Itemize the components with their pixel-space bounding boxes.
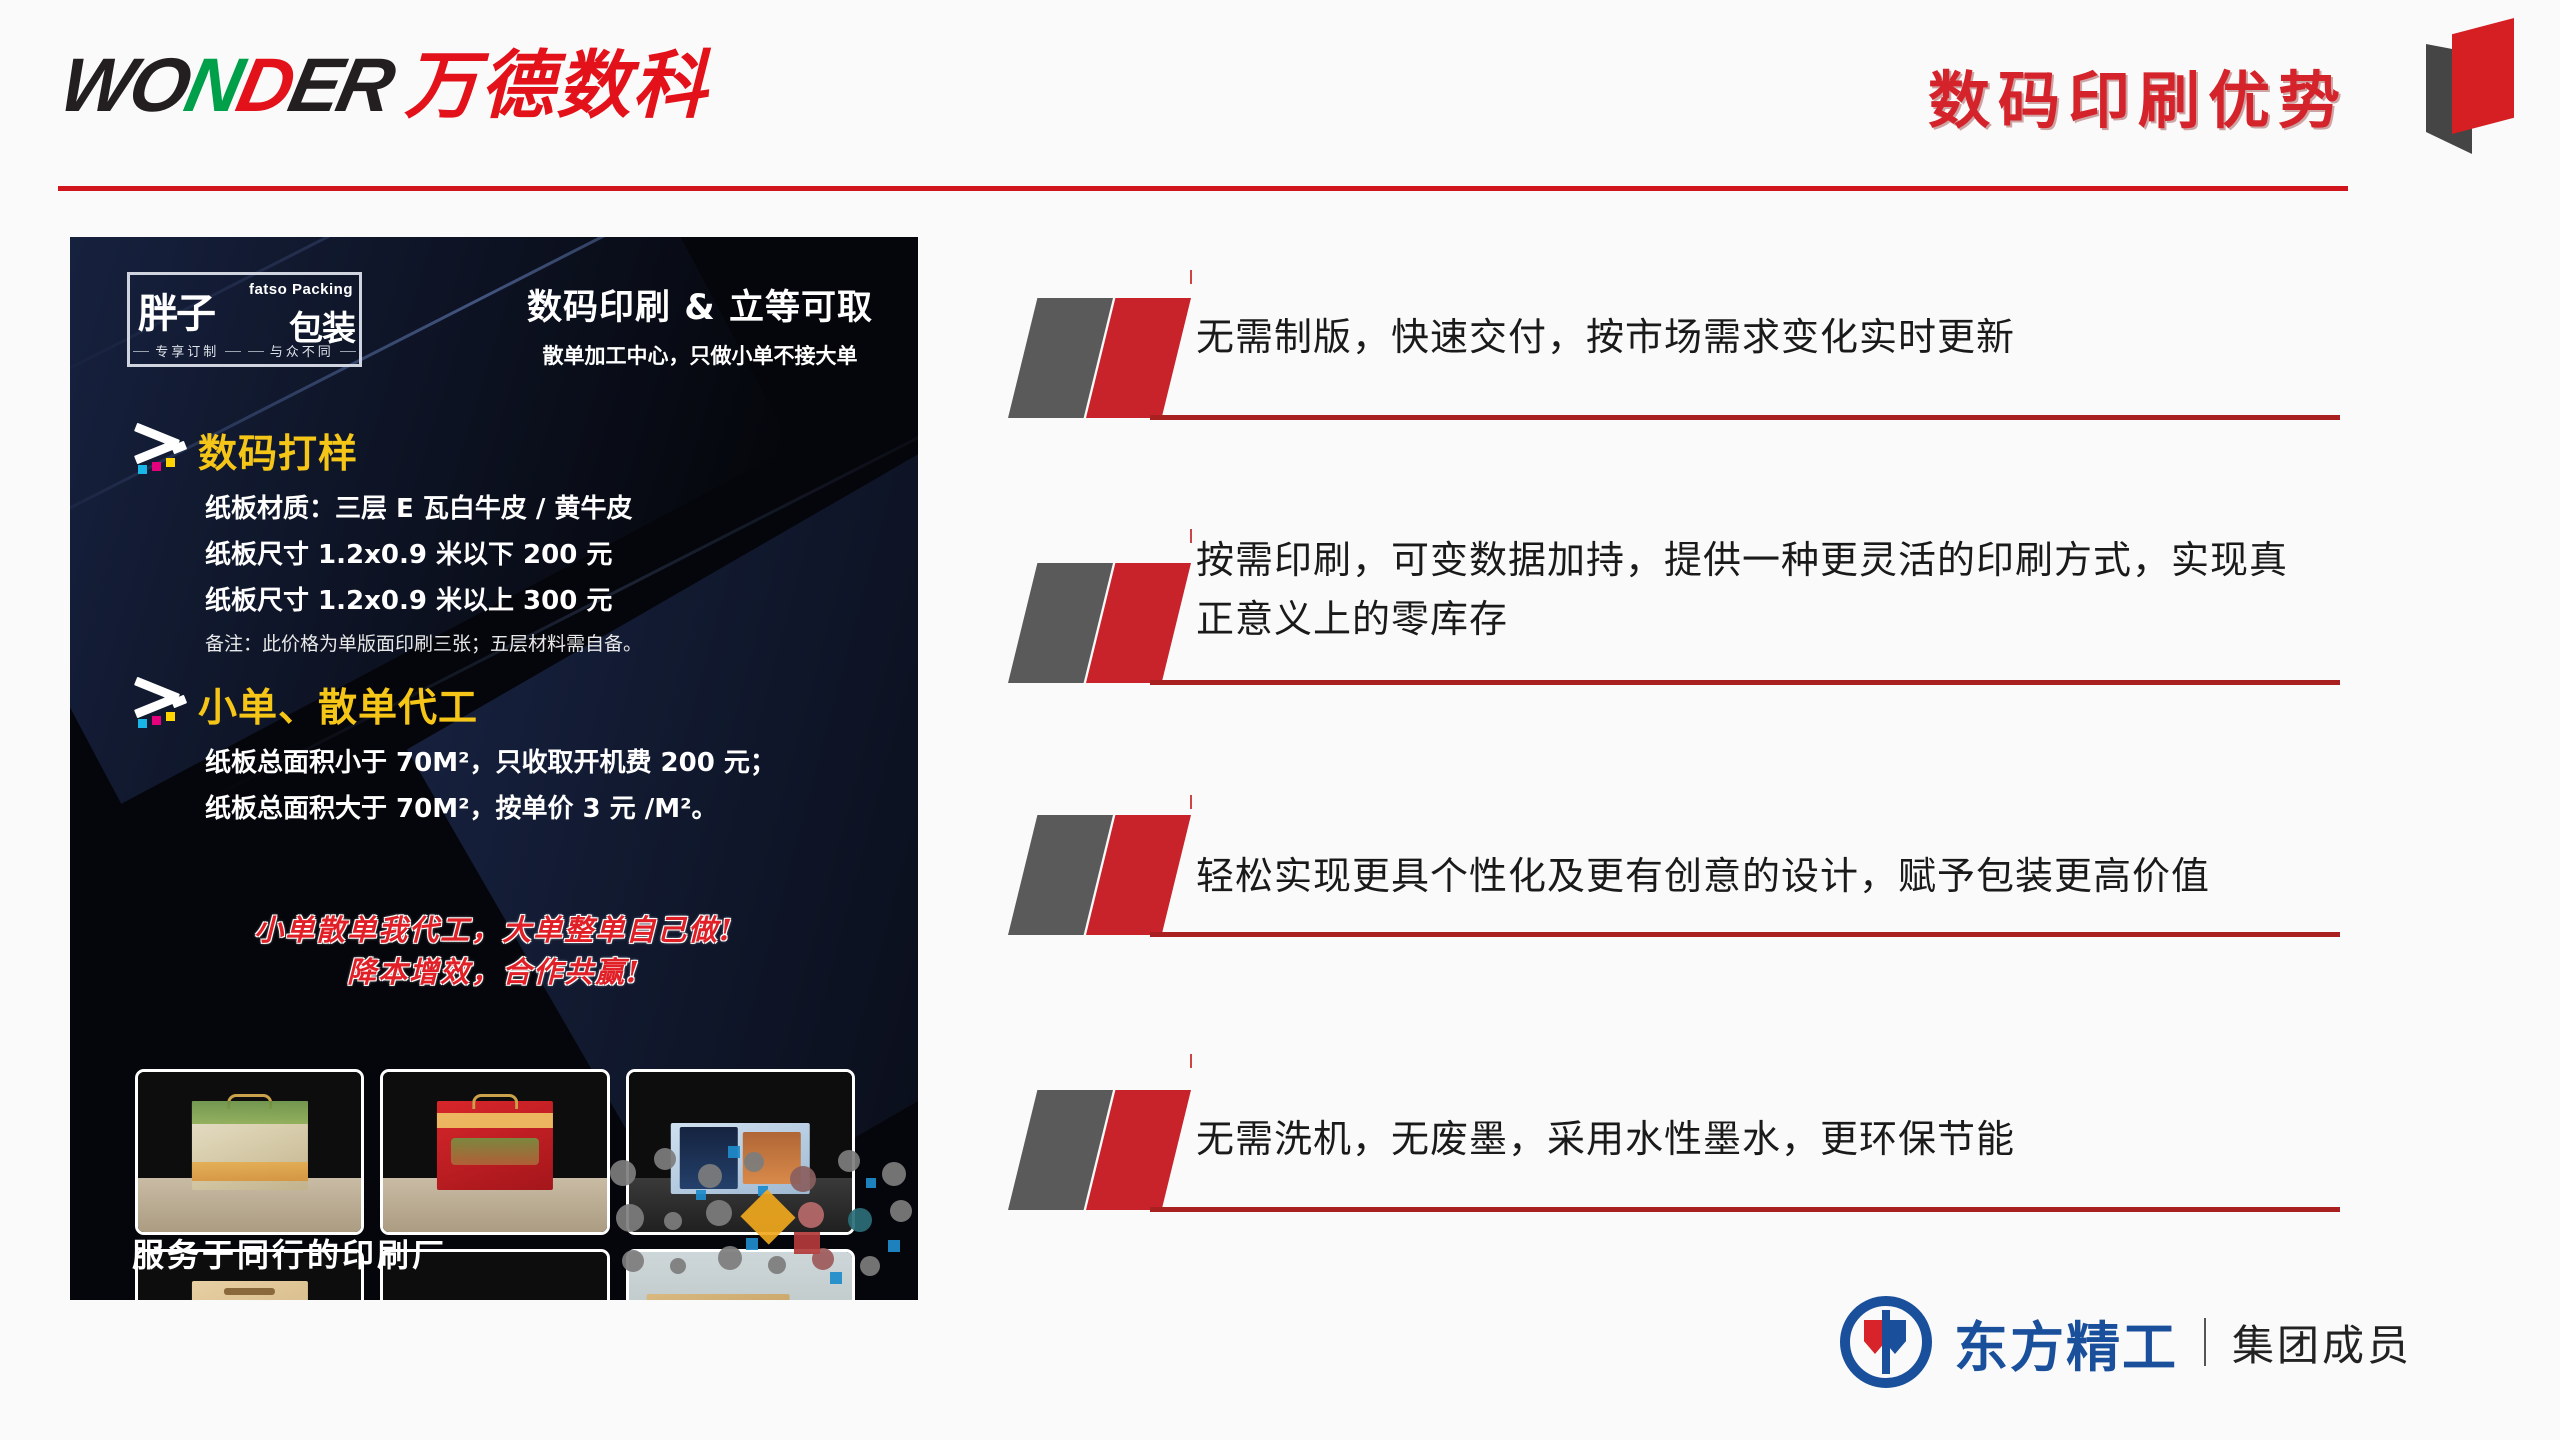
advantage-underline [1150, 680, 2340, 685]
advantage-underline [1150, 932, 2340, 937]
poster-headline-block: 数码印刷 & 立等可取 散单加工中心，只做小单不接大单 [500, 279, 900, 370]
poster-slogan: 小单散单我代工，大单整单自己做! 降本增效，合作共赢! [70, 909, 918, 993]
page-title: 数码印刷优势 [1928, 50, 2348, 140]
bullet-marker [1008, 563, 1183, 683]
tick-mark [1190, 1054, 1192, 1068]
footer-branding: 东方精工 集团成员 [1840, 1296, 2412, 1388]
promo-poster-image: 胖子 fatso Packing 包装 专享订制 与众不同 数码印刷 & 立等可… [70, 237, 918, 1300]
poster-headline: 数码印刷 & 立等可取 [500, 279, 900, 330]
advantage-item: 无需洗机，无废墨，采用水性墨水，更环保节能 [1000, 1040, 2340, 1285]
section-1-note: 备注：此价格为单版面印刷三张；五层材料需自备。 [205, 629, 890, 656]
advantage-text: 轻松实现更具个性化及更有创意的设计，赋予包装更高价值 [1196, 847, 2326, 906]
corner-accent-red-shape [2452, 18, 2514, 134]
decorative-dot-pattern [598, 1142, 918, 1292]
section-1-title-row: 数码打样 [130, 423, 890, 479]
wonder-logo-wo: WO [54, 48, 195, 124]
advantage-text: 按需印刷，可变数据加持，提供一种更灵活的印刷方式，实现真正意义上的零库存 [1196, 531, 2326, 649]
dongfang-jingong-logo-icon [1840, 1296, 1932, 1388]
bullet-marker [1008, 1090, 1183, 1210]
tick-mark [1190, 795, 1192, 809]
fatso-logo-brand-cn: 胖子 [138, 281, 214, 339]
poster-section-small-orders: 小单、散单代工 纸板总面积小于 70M²，只收取开机费 200 元； 纸板总面积… [130, 677, 890, 825]
fatso-logo-brand-en: fatso Packing [249, 281, 353, 298]
section-1-line-3: 纸板尺寸 1.2x0.9 米以上 300 元 [205, 580, 890, 617]
advantage-item: 按需印刷，可变数据加持，提供一种更灵活的印刷方式，实现真正意义上的零库存 [1000, 505, 2340, 795]
header-divider [58, 186, 2348, 191]
poster-slogan-line-1: 小单散单我代工，大单整单自己做! [70, 909, 918, 951]
product-photo [380, 1069, 609, 1235]
product-photo [135, 1069, 364, 1235]
chevron-arrow-icon [130, 679, 192, 731]
poster-slogan-line-2: 降本增效，合作共赢! [70, 951, 918, 993]
bullet-marker [1008, 815, 1183, 935]
section-2-line-2: 纸板总面积大于 70M²，按单价 3 元 /M²。 [205, 788, 890, 825]
advantage-item: 轻松实现更具个性化及更有创意的设计，赋予包装更高价值 [1000, 795, 2340, 1040]
fatso-tagline-left: 专享订制 [155, 341, 219, 360]
poster-caption: 服务于同行的印刷厂 [132, 1230, 447, 1276]
section-2-title-row: 小单、散单代工 [130, 677, 890, 733]
advantage-underline [1150, 415, 2340, 420]
tick-mark [1190, 529, 1192, 543]
advantages-list: 无需制版，快速交付，按市场需求变化实时更新 按需印刷，可变数据加持，提供一种更灵… [1000, 260, 2340, 1285]
footer-member-label: 集团成员 [2232, 1312, 2412, 1373]
bullet-marker [1008, 298, 1183, 418]
fatso-logo-taglines: 专享订制 与众不同 [130, 341, 359, 360]
fatso-tagline-right: 与众不同 [270, 341, 334, 360]
wonder-logo-latin: WONDER [54, 48, 398, 124]
footer-company-name: 东方精工 [1954, 1303, 2178, 1382]
wonder-logo-er: ER [283, 48, 399, 124]
section-2-title: 小单、散单代工 [198, 677, 478, 733]
section-2-line-1: 纸板总面积小于 70M²，只收取开机费 200 元； [205, 742, 890, 779]
footer-divider [2204, 1318, 2206, 1366]
section-1-line-2: 纸板尺寸 1.2x0.9 米以下 200 元 [205, 534, 890, 571]
advantage-text: 无需制版，快速交付，按市场需求变化实时更新 [1196, 308, 2326, 367]
chevron-arrow-icon [130, 425, 192, 477]
section-1-title: 数码打样 [198, 423, 358, 479]
advantage-text: 无需洗机，无废墨，采用水性墨水，更环保节能 [1196, 1110, 2326, 1169]
advantage-underline [1150, 1207, 2340, 1212]
section-1-line-1: 纸板材质：三层 E 瓦白牛皮 / 黄牛皮 [205, 488, 890, 525]
wonder-logo-chinese: 万德数科 [404, 49, 708, 123]
advantage-item: 无需制版，快速交付，按市场需求变化实时更新 [1000, 260, 2340, 505]
tick-mark [1190, 270, 1192, 284]
poster-subheadline: 散单加工中心，只做小单不接大单 [500, 340, 900, 370]
fatso-packing-logo: 胖子 fatso Packing 包装 专享订制 与众不同 [127, 272, 362, 367]
wonder-logo: WONDER 万德数科 [62, 48, 708, 124]
poster-section-digital-proofing: 数码打样 纸板材质：三层 E 瓦白牛皮 / 黄牛皮 纸板尺寸 1.2x0.9 米… [130, 423, 890, 656]
page-header: WONDER 万德数科 数码印刷优势 [0, 0, 2560, 190]
corner-accent-mark [2412, 6, 2530, 154]
